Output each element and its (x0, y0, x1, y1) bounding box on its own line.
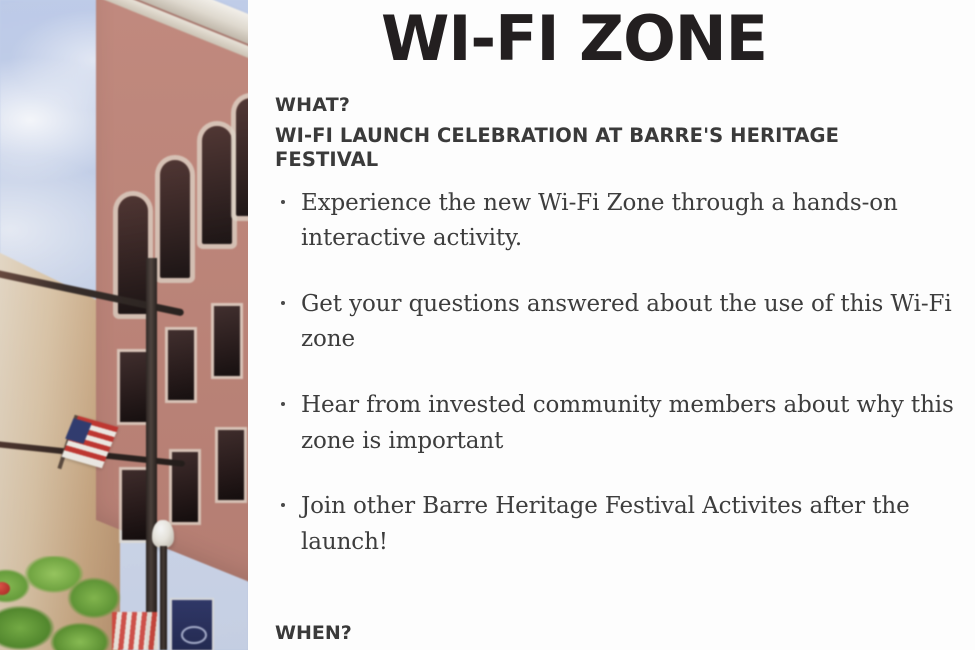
barre-downtown-photo (0, 0, 248, 650)
list-item-text: Experience the new Wi-Fi Zone through a … (301, 190, 898, 252)
utility-pole (146, 258, 157, 650)
what-bullet-list: Experience the new Wi-Fi Zone through a … (275, 186, 955, 561)
list-item-text: Join other Barre Heritage Festival Activ… (301, 493, 910, 555)
page-title: WI-FI ZONE (248, 2, 900, 75)
bullet-dot-icon (281, 503, 285, 507)
flyer-content-pane: WI-FI ZONE WHAT? WI-FI LAUNCH CELEBRATIO… (248, 0, 975, 650)
rect-window (218, 430, 244, 500)
bullet-dot-icon (281, 200, 285, 204)
bullet-dot-icon (281, 301, 285, 305)
street-lamp-post (160, 546, 167, 650)
arched-window (202, 126, 232, 244)
what-heading: WHAT? (275, 96, 975, 115)
list-item: Get your questions answered about the us… (275, 287, 955, 358)
banner-emblem (181, 626, 207, 644)
rect-window (214, 306, 240, 376)
rect-window (122, 470, 148, 540)
when-heading: WHEN? (275, 622, 352, 644)
rect-window (120, 352, 146, 422)
what-section: WHAT? WI-FI LAUNCH CELEBRATION AT BARRE'… (275, 96, 975, 561)
green-foliage (0, 556, 146, 650)
street-lamp-globe (152, 520, 174, 548)
list-item: Join other Barre Heritage Festival Activ… (275, 489, 955, 560)
list-item: Experience the new Wi-Fi Zone through a … (275, 186, 955, 257)
rect-window (168, 330, 194, 400)
bullet-dot-icon (281, 402, 285, 406)
wifi-zone-flyer: WI-FI ZONE WHAT? WI-FI LAUNCH CELEBRATIO… (0, 0, 975, 650)
list-item-text: Hear from invested community members abo… (301, 392, 954, 454)
photo-inner (0, 0, 248, 650)
arched-window (160, 160, 190, 278)
what-subheading: WI-FI LAUNCH CELEBRATION AT BARRE'S HERI… (275, 124, 935, 172)
list-item: Hear from invested community members abo… (275, 388, 955, 459)
list-item-text: Get your questions answered about the us… (301, 291, 952, 353)
arched-window (236, 98, 248, 216)
